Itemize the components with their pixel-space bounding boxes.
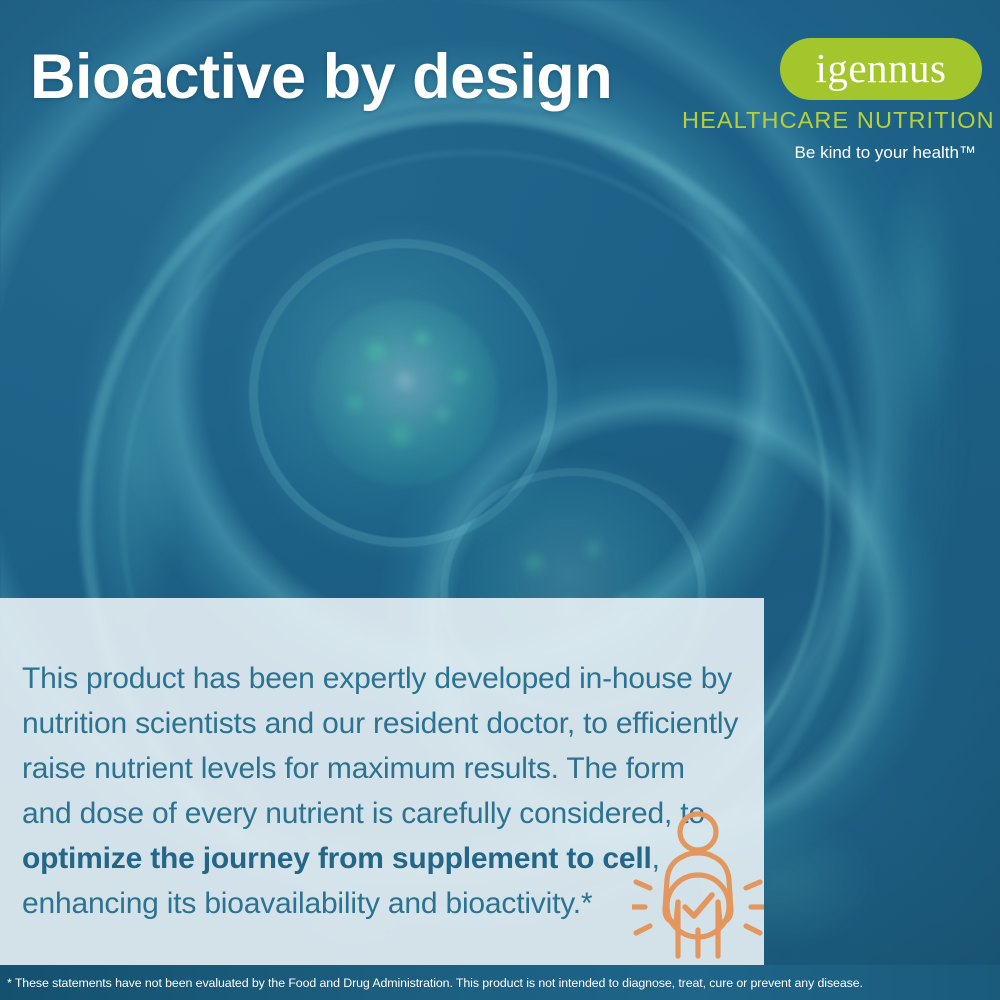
brand-pill-shape: igennus [780, 38, 982, 100]
footer-disclaimer-text: * These statements have not been evaluat… [7, 976, 863, 990]
page-title: Bioactive by design [30, 44, 612, 110]
brand-subtitle: HEALTHCARE NUTRITION [682, 107, 982, 134]
footer-disclaimer-bar: * These statements have not been evaluat… [0, 965, 1000, 1000]
upper-cell-granules [300, 288, 510, 498]
promotional-poster: Bioactive by design igennus HEALTHCARE N… [0, 0, 1000, 1000]
brand-tagline: Be kind to your health™ [682, 143, 982, 163]
body-copy-emphasis: optimize the journey from supplement to … [22, 842, 652, 875]
person-wellness-check-icon [632, 806, 764, 964]
brand-logo-lockup: igennus HEALTHCARE NUTRITION Be kind to … [682, 38, 982, 163]
body-copy-part1: This product has been expertly developed… [22, 662, 738, 830]
brand-wordmark: igennus [780, 38, 982, 100]
